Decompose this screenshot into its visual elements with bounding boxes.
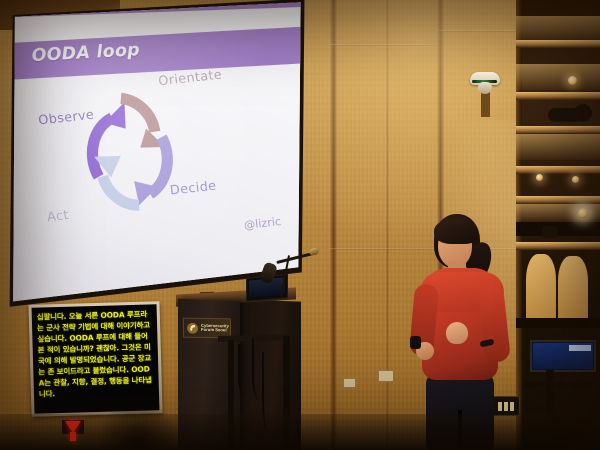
equipment-shelf: [524, 382, 592, 387]
photo-scene: Cybersecurity Forum Seoul OODA loop Obse…: [0, 0, 600, 450]
caption-text: 십팔니다. 오늘 서른 OODA 루프라는 군사 전략 기법에 대해 이야기하고…: [37, 308, 155, 399]
presentation-clicker: [410, 336, 421, 349]
wall-panel-seam: [330, 44, 438, 46]
bay-light-strip: [516, 64, 600, 90]
ceiling-lamp: [578, 208, 588, 218]
bay-shelf: [516, 196, 600, 204]
monitor-highlight: [569, 345, 591, 351]
exit-arrow-tail: [70, 432, 76, 441]
ceiling-lamp: [568, 76, 577, 85]
recessed-ceiling-bay: [516, 0, 600, 450]
podium-sign-line-2: Forum Seoul: [201, 328, 229, 333]
stage-spotlight: [542, 226, 558, 238]
bay-light-strip: [516, 16, 600, 42]
bay-shelf: [516, 40, 600, 48]
stage-spotlight: [574, 104, 592, 122]
caption-board-inner: 십팔니다. 오늘 서른 OODA 루프라는 군사 전략 기법에 대해 이야기하고…: [32, 304, 160, 413]
ceiling-lamp: [536, 174, 543, 181]
podium-sign-text: Cybersecurity Forum Seoul: [201, 324, 229, 333]
bay-pillar: [526, 254, 556, 318]
surveillance-camera: [470, 72, 500, 92]
bay-shelf: [516, 166, 600, 174]
stage-floor: [0, 414, 600, 450]
speaker-fringe: [434, 218, 478, 244]
projection-screen: Cybersecurity Forum Seoul OODA loop Obse…: [9, 1, 303, 305]
wall-outlet: [378, 370, 394, 382]
wall-panel-seam: [330, 0, 337, 450]
control-monitor: [530, 340, 596, 372]
caption-board: 십팔니다. 오늘 서른 OODA 루프라는 군사 전략 기법에 대해 이야기하고…: [28, 301, 162, 417]
wall-panel-seam: [437, 30, 519, 32]
ooda-cycle-diagram: [64, 79, 202, 222]
podium-bird-logo-icon: [186, 321, 199, 334]
wall-panel-seam: [386, 0, 389, 450]
camera-mount: [481, 91, 490, 117]
bay-shelf: [516, 92, 600, 100]
slide-twitter-handle: @lizric: [243, 215, 282, 232]
bay-shelf: [516, 242, 600, 250]
bay-light-strip: [516, 134, 600, 160]
bay-shelf: [516, 126, 600, 134]
bay-pillar: [558, 256, 588, 318]
cable: [238, 344, 252, 396]
wall-outlet: [343, 378, 356, 388]
presentation-slide: Cybersecurity Forum Seoul OODA loop Obse…: [9, 1, 303, 305]
foreground-shadow: [98, 402, 178, 450]
speaker-gesturing-hand: [446, 322, 468, 344]
slide-label-act: Act: [46, 207, 69, 225]
act-arrow-icon: [94, 153, 139, 210]
emergency-exit-sign: [62, 420, 84, 446]
bay-beam: [516, 222, 600, 236]
ceiling-lamp: [572, 176, 579, 183]
bay-beam: [516, 318, 600, 328]
